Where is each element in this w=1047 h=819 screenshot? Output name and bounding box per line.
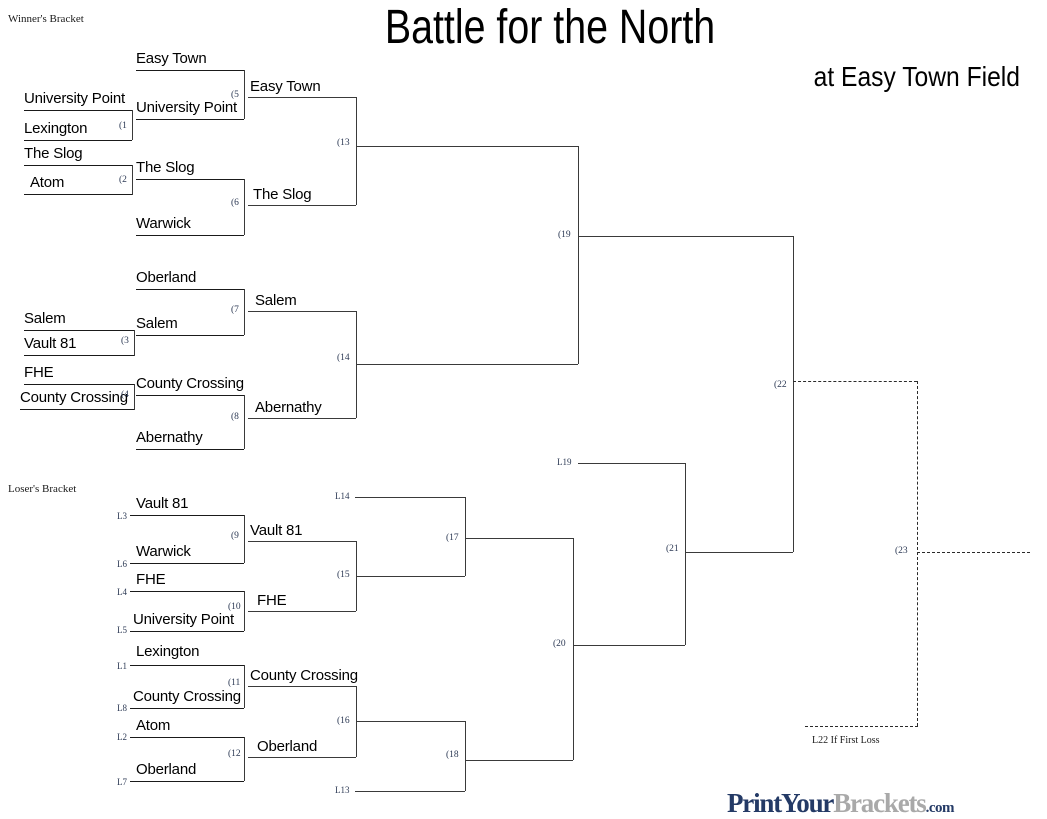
lb-r2-g16-bottom-rule <box>248 757 356 758</box>
wb-r3-g14-bottom-rule <box>248 418 356 419</box>
lb-r5-g21-feed-label: L19 <box>557 457 572 467</box>
wb-r1-g1-number: (1 <box>119 121 127 131</box>
wb-r1-g4-top[interactable]: FHE <box>24 365 53 380</box>
lb-r1-g12-top-seed: L2 <box>117 732 127 742</box>
lb-r1-g11-bottom-rule <box>130 708 244 709</box>
wb-r2-g8-bottom-rule <box>136 449 244 450</box>
wb-r4-g19-number: (19 <box>558 230 571 240</box>
lb-r1-g9-top-rule <box>130 515 244 516</box>
lb-r1-g9-number: (9 <box>231 531 239 541</box>
wb-r2-g8-top[interactable]: County Crossing <box>136 376 244 391</box>
lb-r1-g10-number: (10 <box>228 602 241 612</box>
lb-r1-g10-bottom-seed: L5 <box>117 625 127 635</box>
lb-g21-to-g22-rule <box>685 552 793 553</box>
lb-r2-g15-top[interactable]: Vault 81 <box>250 523 302 538</box>
wb-r1-g2-top-rule <box>24 165 132 166</box>
wb-r3-g13-connector <box>356 97 357 205</box>
lb-r1-g9-bottom-seed: L6 <box>117 559 127 569</box>
lb-r1-g10-connector <box>244 591 245 631</box>
lb-r1-g12-bottom-rule <box>130 781 244 782</box>
wb-r2-g5-top[interactable]: Easy Town <box>136 51 206 66</box>
wb-r3-g14-bottom[interactable]: Abernathy <box>255 400 322 415</box>
lb-r2-g16-top[interactable]: County Crossing <box>250 668 358 683</box>
wb-r4-g19-connector <box>578 146 579 364</box>
wb-r3-g13-number: (13 <box>337 138 350 148</box>
page-title: Battle for the North <box>345 2 755 54</box>
wb-final-g22-number: (22 <box>774 380 787 390</box>
wb-r2-g6-number: (6 <box>231 198 239 208</box>
wb-r2-g7-connector <box>244 289 245 335</box>
wb-r2-g8-top-rule <box>136 395 244 396</box>
lb-r4-g20-number: (20 <box>553 639 566 649</box>
lb-r1-g9-top[interactable]: Vault 81 <box>136 496 188 511</box>
wb-r1-g4-bottom[interactable]: County Crossing <box>20 390 128 405</box>
lb-r4-g20-connector <box>573 538 574 760</box>
lb-r3-g18-connector <box>465 721 466 791</box>
lb-r3-g17-number: (17 <box>446 533 459 543</box>
wb-r2-g7-number: (7 <box>231 305 239 315</box>
lb-r3-g17-feed-label: L14 <box>335 491 350 501</box>
lb-r3-g18-number: (18 <box>446 750 459 760</box>
wb-r2-g5-bottom[interactable]: University Point <box>136 100 237 115</box>
wb-r1-g4-number: (4 <box>121 390 129 400</box>
wb-r4-g19-top-rule <box>356 146 578 147</box>
lb-r1-g11-top[interactable]: Lexington <box>136 644 199 659</box>
wb-r1-g3-number: (3 <box>121 336 129 346</box>
wb-r2-g7-bottom-rule <box>136 335 244 336</box>
champ-g23-bottom-rule <box>805 726 918 727</box>
wb-r1-g2-bottom[interactable]: Atom <box>30 175 64 190</box>
wb-r2-g6-top[interactable]: The Slog <box>136 160 194 175</box>
wb-r2-g8-connector <box>244 395 245 449</box>
lb-r2-g16-number: (16 <box>337 716 350 726</box>
lb-r2-g15-top-rule <box>248 541 356 542</box>
wb-r2-g7-bottom[interactable]: Salem <box>136 316 178 331</box>
wb-r2-g8-number: (8 <box>231 412 239 422</box>
lb-r5-g21-bottom-rule <box>573 645 685 646</box>
champ-g23-connector <box>917 381 918 726</box>
lb-r1-g12-connector <box>244 737 245 781</box>
wb-r2-g5-number: (5 <box>231 90 239 100</box>
lb-r1-g11-top-rule <box>130 665 244 666</box>
lb-r1-g12-bottom-seed: L7 <box>117 777 127 787</box>
lb-r4-g20-top-rule <box>465 538 573 539</box>
wb-r1-g4-top-rule <box>24 384 134 385</box>
lb-r2-g16-top-rule <box>248 686 356 687</box>
bracket-canvas: Battle for the North at Easy Town Field … <box>0 0 1047 814</box>
if-first-loss-label: L22 If First Loss <box>812 735 880 746</box>
printyourbrackets-logo[interactable]: PrintYourBrackets.com <box>727 788 954 819</box>
wb-r1-g3-top[interactable]: Salem <box>24 311 66 326</box>
lb-r1-g11-number: (11 <box>228 678 240 688</box>
wb-r2-g6-top-rule <box>136 179 244 180</box>
wb-r2-g5-connector <box>244 70 245 119</box>
lb-r1-g11-top-seed: L1 <box>117 661 127 671</box>
lb-r3-g17-bottom-rule <box>356 576 465 577</box>
lb-r3-g18-bottom-rule <box>355 791 465 792</box>
lb-r5-g21-number: (21 <box>666 544 679 554</box>
lb-r1-g10-top-seed: L4 <box>117 587 127 597</box>
lb-r1-g9-connector <box>244 515 245 563</box>
wb-r3-g13-bottom[interactable]: The Slog <box>253 187 311 202</box>
wb-r3-g13-bottom-rule <box>248 205 356 206</box>
lb-r1-g11-connector <box>244 665 245 708</box>
wb-r2-g7-top[interactable]: Oberland <box>136 270 196 285</box>
wb-r3-g13-top-rule <box>248 97 356 98</box>
wb-r1-g1-top-rule <box>24 110 132 111</box>
wb-r1-g1-connector <box>132 110 133 140</box>
champ-g23-number: (23 <box>895 546 908 556</box>
wb-r1-g2-number: (2 <box>119 175 127 185</box>
winners-bracket-label: Winner's Bracket <box>8 13 84 25</box>
lb-r4-g20-bottom-rule <box>465 760 573 761</box>
wb-r1-g4-bottom-rule <box>20 409 134 410</box>
lb-r3-g18-top-rule <box>356 721 465 722</box>
wb-final-g22-top-rule <box>578 236 793 237</box>
lb-r1-g10-bottom[interactable]: University Point <box>133 612 234 627</box>
wb-r1-g1-bottom-rule <box>24 140 132 141</box>
lb-r5-g21-connector <box>685 463 686 645</box>
wb-r1-g3-bottom[interactable]: Vault 81 <box>24 336 76 351</box>
wb-r2-g5-top-rule <box>136 70 244 71</box>
wb-r1-g1-top[interactable]: University Point <box>24 91 125 106</box>
champ-g23-top-rule <box>793 381 917 382</box>
lb-r1-g10-bottom-rule <box>130 631 244 632</box>
wb-r1-g2-top[interactable]: The Slog <box>24 146 82 161</box>
lb-r1-g12-top-rule <box>130 737 244 738</box>
wb-r3-g14-number: (14 <box>337 353 350 363</box>
lb-r2-g16-bottom[interactable]: Oberland <box>257 739 317 754</box>
lb-r1-g12-top[interactable]: Atom <box>136 718 170 733</box>
wb-r3-g14-top[interactable]: Salem <box>255 293 297 308</box>
lb-r5-g21-top-rule <box>578 463 685 464</box>
lb-r3-g17-top-rule <box>355 497 465 498</box>
lb-r1-g9-top-seed: L3 <box>117 511 127 521</box>
wb-r2-g6-connector <box>244 179 245 235</box>
lb-r2-g15-bottom[interactable]: FHE <box>257 593 286 608</box>
wb-r3-g13-top[interactable]: Easy Town <box>250 79 320 94</box>
wb-r1-g3-bottom-rule <box>24 355 134 356</box>
lb-r1-g10-top-rule <box>130 591 244 592</box>
lb-r1-g9-bottom-rule <box>130 563 244 564</box>
wb-r2-g6-bottom[interactable]: Warwick <box>136 216 191 231</box>
wb-r1-g2-bottom-rule <box>24 194 132 195</box>
wb-r2-g6-bottom-rule <box>136 235 244 236</box>
lb-r1-g12-number: (12 <box>228 749 241 759</box>
lb-r1-g11-bottom[interactable]: County Crossing <box>133 689 241 704</box>
losers-bracket-label: Loser's Bracket <box>8 483 76 495</box>
wb-r2-g8-bottom[interactable]: Abernathy <box>136 430 203 445</box>
wb-r1-g1-bottom[interactable]: Lexington <box>24 121 87 136</box>
wb-final-g22-connector <box>793 236 794 552</box>
wb-r1-g2-connector <box>132 165 133 195</box>
lb-r2-g15-number: (15 <box>337 570 350 580</box>
wb-r1-g3-top-rule <box>24 330 134 331</box>
lb-r1-g10-top[interactable]: FHE <box>136 572 165 587</box>
lb-r1-g12-bottom[interactable]: Oberland <box>136 762 196 777</box>
lb-r3-g17-connector <box>465 497 466 576</box>
champ-g23-out-rule <box>917 552 1030 553</box>
wb-r3-g14-top-rule <box>248 311 356 312</box>
lb-r2-g15-bottom-rule <box>248 611 356 612</box>
lb-r1-g9-bottom[interactable]: Warwick <box>136 544 191 559</box>
wb-r2-g5-bottom-rule <box>136 119 244 120</box>
wb-r2-g7-top-rule <box>136 289 244 290</box>
lb-r3-g18-feed-label: L13 <box>335 785 350 795</box>
page-subtitle: at Easy Town Field <box>580 62 1020 92</box>
wb-r4-g19-bottom-rule <box>356 364 578 365</box>
wb-r1-g4-connector <box>134 384 135 410</box>
lb-r1-g11-bottom-seed: L8 <box>117 703 127 713</box>
wb-r1-g3-connector <box>134 330 135 356</box>
